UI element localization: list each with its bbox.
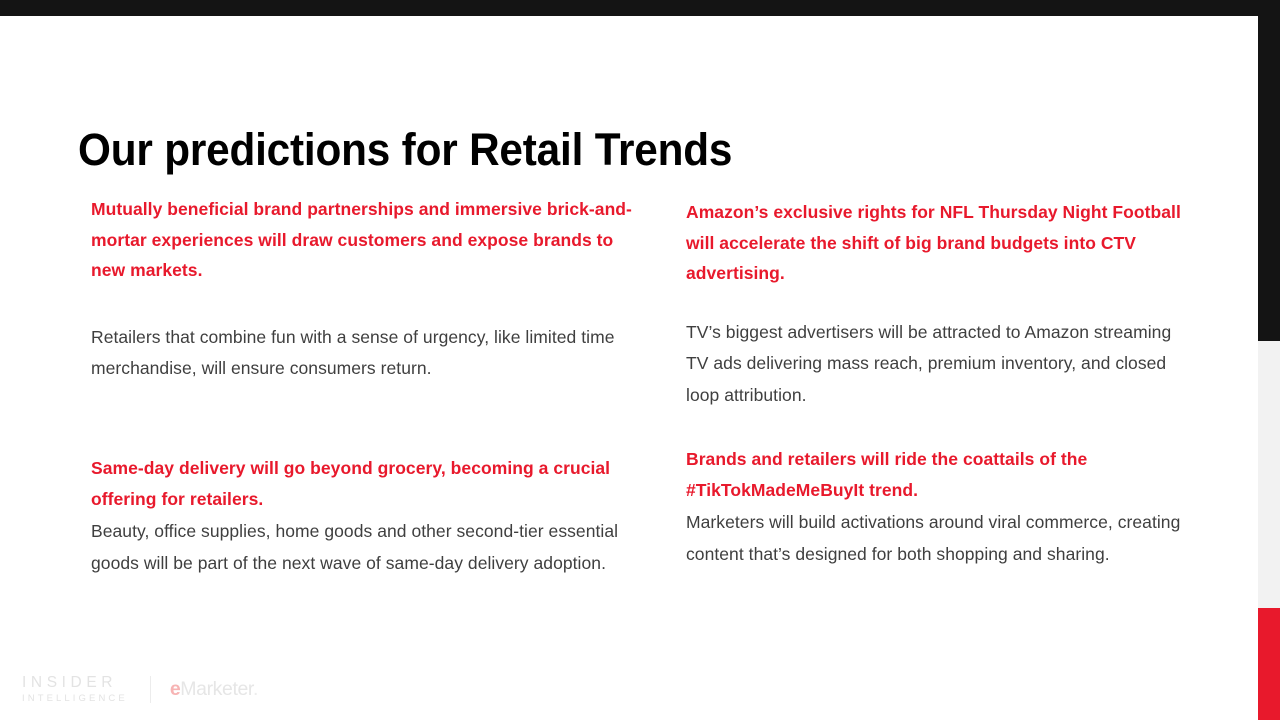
prediction-block: Amazon’s exclusive rights for NFL Thursd…	[686, 197, 1191, 411]
right-edge-bar-gray	[1258, 341, 1280, 608]
insider-intelligence-logo: INSIDER INTELLIGENCE	[22, 675, 128, 704]
prediction-block: Same-day delivery will go beyond grocery…	[91, 453, 653, 579]
top-black-band	[0, 0, 1280, 16]
predictions-grid: Mutually beneficial brand partnerships a…	[0, 186, 1240, 646]
logo-divider	[150, 676, 151, 703]
right-edge-bar-red	[1258, 608, 1280, 720]
prediction-body: TV’s biggest advertisers will be attract…	[686, 317, 1191, 412]
prediction-headline: Mutually beneficial brand partnerships a…	[91, 194, 651, 286]
prediction-block: Mutually beneficial brand partnerships a…	[91, 194, 651, 385]
emarketer-logo: eMarketer.	[170, 678, 258, 701]
page-title: Our predictions for Retail Trends	[78, 126, 1018, 175]
prediction-body: Retailers that combine fun with a sense …	[91, 322, 651, 385]
prediction-block: Brands and retailers will ride the coatt…	[686, 444, 1204, 570]
prediction-headline: Same-day delivery will go beyond grocery…	[91, 453, 653, 514]
right-edge-bar-black	[1258, 0, 1280, 341]
emarketer-logo-trademark: .	[253, 678, 258, 700]
prediction-headline: Brands and retailers will ride the coatt…	[686, 444, 1204, 505]
emarketer-logo-name: Marketer	[180, 678, 253, 700]
insider-intelligence-logo-bottom: INTELLIGENCE	[22, 694, 128, 704]
emarketer-logo-mark: e	[170, 678, 180, 700]
prediction-body: Beauty, office supplies, home goods and …	[91, 516, 653, 579]
prediction-body: Marketers will build activations around …	[686, 507, 1204, 570]
footer-logo-lockup: INSIDER INTELLIGENCE eMarketer.	[22, 672, 258, 706]
insider-intelligence-logo-top: INSIDER	[22, 675, 128, 691]
prediction-headline: Amazon’s exclusive rights for NFL Thursd…	[686, 197, 1191, 289]
